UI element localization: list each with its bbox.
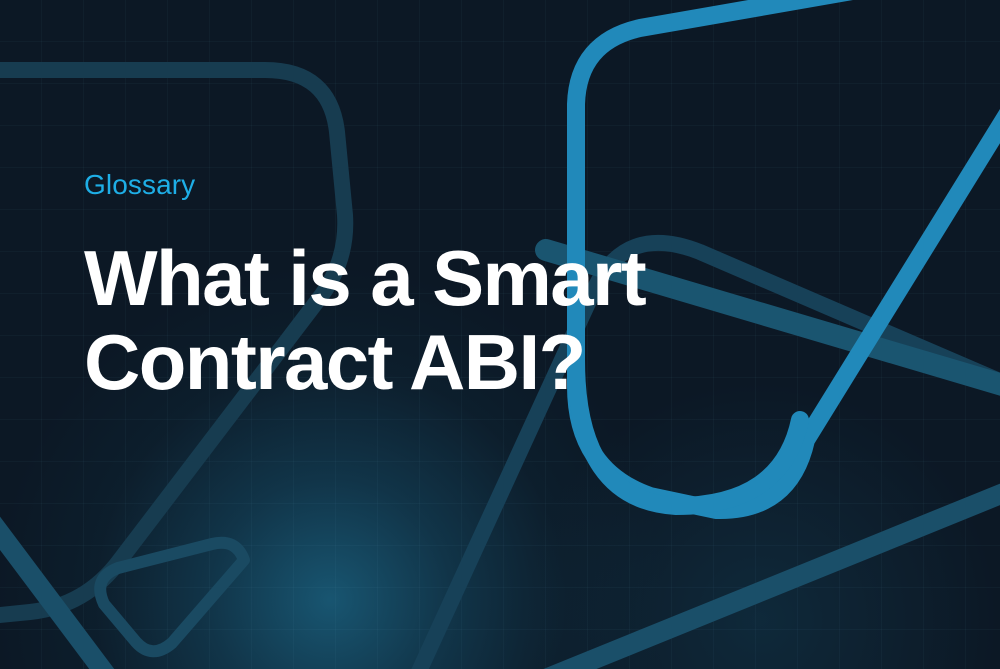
page-title-line-2: Contract ABI?: [84, 318, 585, 406]
glossary-hero-card: Glossary What is a Smart Contract ABI?: [0, 0, 1000, 669]
hero-text-block: Glossary What is a Smart Contract ABI?: [84, 168, 804, 404]
page-title-line-1: What is a Smart: [84, 234, 645, 322]
page-title: What is a Smart Contract ABI?: [84, 236, 784, 404]
eyebrow-label: Glossary: [84, 168, 804, 202]
